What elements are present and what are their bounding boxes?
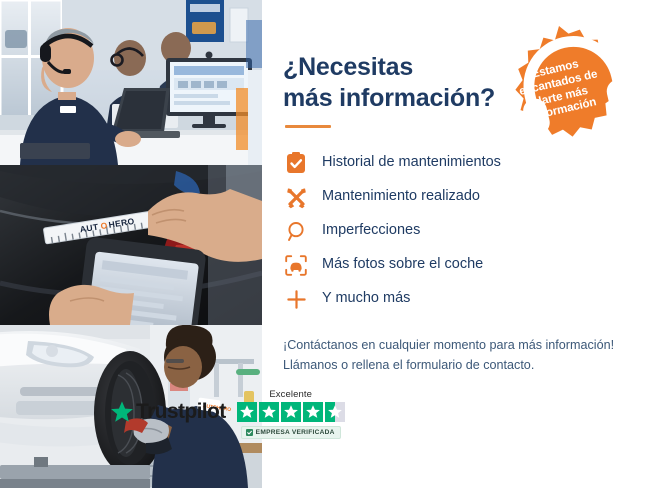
contact-text: ¡Contáctanos en cualquier momento para m…	[283, 335, 624, 376]
info-promo-card: AUT O HERO	[0, 0, 650, 488]
contact-line-2: Llámanos o rellena el formulario de cont…	[283, 355, 624, 375]
list-item-label: Mantenimiento realizado	[322, 189, 480, 205]
trustpilot-logo: Trustpilot	[110, 400, 226, 424]
verified-company-label: EMPRESA VERIFICADA	[256, 429, 335, 436]
list-item-label: Historial de mantenimientos	[322, 155, 501, 171]
trustpilot-star-icon	[110, 400, 134, 424]
trustpilot-stars	[237, 402, 345, 422]
clipboard-check-icon	[283, 150, 309, 176]
verified-check-icon	[246, 429, 253, 436]
rating-star-icon	[237, 402, 257, 422]
rating-star-half-icon	[325, 402, 345, 422]
list-item: Y mucho más	[283, 283, 624, 315]
plus-icon	[283, 286, 309, 312]
contact-line-1: ¡Contáctanos en cualquier momento para m…	[283, 335, 624, 355]
rating-star-icon	[259, 402, 279, 422]
list-item-label: Y mucho más	[322, 291, 410, 307]
list-item-label: Imperfecciones	[322, 223, 420, 239]
trustpilot-rating[interactable]: Trustpilot Excelente EMPRESA VERIFICADA	[110, 389, 345, 441]
title-divider	[285, 125, 331, 128]
list-item: Mantenimiento realizado	[283, 181, 624, 213]
trustpilot-rating-label: Excelente	[237, 389, 345, 400]
status-badge: Estamos encantados de darte más informac…	[497, 24, 621, 148]
headline-line-1: ¿Necesitas	[283, 53, 413, 81]
list-item: Historial de mantenimientos	[283, 147, 624, 179]
list-item: Más fotos sobre el coche	[283, 249, 624, 281]
trustpilot-wordmark: Trustpilot	[136, 400, 226, 424]
list-item-label: Más fotos sobre el coche	[322, 257, 483, 273]
feature-list: Historial de mantenimientos M	[283, 147, 624, 315]
car-inspection-photo: AUT O HERO	[0, 165, 262, 325]
call-center-agent-photo	[0, 0, 262, 165]
rating-star-icon	[303, 402, 323, 422]
verified-company-badge: EMPRESA VERIFICADA	[241, 426, 341, 439]
headline-line-2: más información?	[283, 84, 495, 112]
rating-star-icon	[281, 402, 301, 422]
car-focus-frame-icon	[283, 252, 309, 278]
tools-cross-icon	[283, 184, 309, 210]
magnifier-icon	[283, 218, 309, 244]
list-item: Imperfecciones	[283, 215, 624, 247]
page-title: ¿Necesitas más información?	[283, 52, 513, 114]
trustpilot-score-block: Excelente EMPRESA VERIFICADA	[237, 389, 345, 441]
